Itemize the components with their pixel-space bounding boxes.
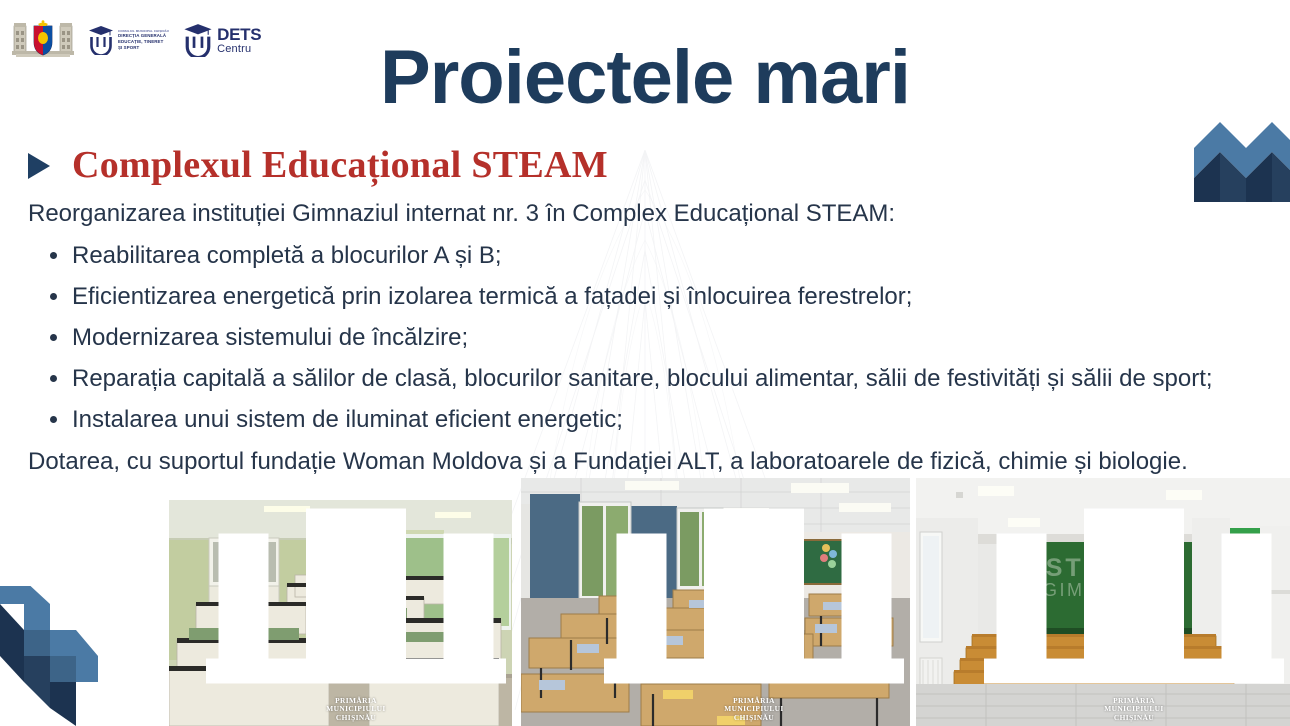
list-item: Reabilitarea completă a blocurilor A și … (28, 239, 1272, 273)
body-content: Reorganizarea instituției Gimnaziul inte… (28, 197, 1272, 479)
slide: CONSILIUL MUNICIPAL CHIȘINĂU DIRECȚIA GE… (0, 0, 1290, 726)
subtitle-row: Complexul Educațional STEAM (28, 143, 608, 187)
lead-paragraph: Reorganizarea instituției Gimnaziul inte… (28, 197, 1272, 232)
moldova-coat-of-arms-icon (12, 20, 74, 60)
logo-dets-centru: DETS Centru (183, 23, 261, 57)
photo-laboratory: PRIMĂRIA MUNICIPIULUI CHIȘINĂU (169, 500, 512, 726)
watermark-primaria: PRIMĂRIA MUNICIPIULUI CHIȘINĂU (984, 496, 1284, 722)
photo-classroom: PRIMĂRIA MUNICIPIULUI CHIȘINĂU (521, 478, 910, 726)
watermark-line-3: CHIȘINĂU (604, 714, 904, 722)
list-item: Modernizarea sistemului de încălzire; (28, 321, 1272, 355)
closing-paragraph: Dotarea, cu suportul fundație Woman Mold… (28, 445, 1272, 479)
photo-steam-hall: STEAM GIMNAZIU (916, 478, 1290, 726)
logo-bar: CONSILIUL MUNICIPAL CHIȘINĂU DIRECȚIA GE… (12, 20, 261, 60)
dgets-line-3: ȘI SPORT (118, 45, 169, 51)
watermark-primaria: PRIMĂRIA MUNICIPIULUI CHIȘINĂU (206, 500, 506, 722)
triangle-bullet-icon (28, 153, 50, 179)
list-item: Reparația capitală a sălilor de clasă, b… (28, 362, 1272, 396)
list-item: Instalarea unui sistem de iluminat efici… (28, 403, 1272, 437)
chevron-decoration-bottom-left (0, 586, 98, 726)
dets-subtitle: Centru (217, 44, 261, 55)
watermark-line-3: CHIȘINĂU (984, 714, 1284, 722)
watermark-line-3: CHIȘINĂU (206, 714, 506, 722)
primaria-crest-icon (206, 500, 506, 696)
slide-subtitle: Complexul Educațional STEAM (72, 143, 608, 187)
primaria-crest-icon (604, 496, 904, 696)
dets-graduation-cap-icon (183, 23, 213, 57)
dgets-graduation-cap-icon (88, 25, 114, 55)
bullet-list: Reabilitarea completă a blocurilor A și … (28, 239, 1272, 437)
dets-title: DETS (217, 26, 261, 43)
watermark-primaria: PRIMĂRIA MUNICIPIULUI CHIȘINĂU (604, 496, 904, 722)
list-item: Eficientizarea energetică prin izolarea … (28, 280, 1272, 314)
primaria-crest-icon (984, 496, 1284, 696)
logo-dgets: CONSILIUL MUNICIPAL CHIȘINĂU DIRECȚIA GE… (88, 25, 169, 55)
